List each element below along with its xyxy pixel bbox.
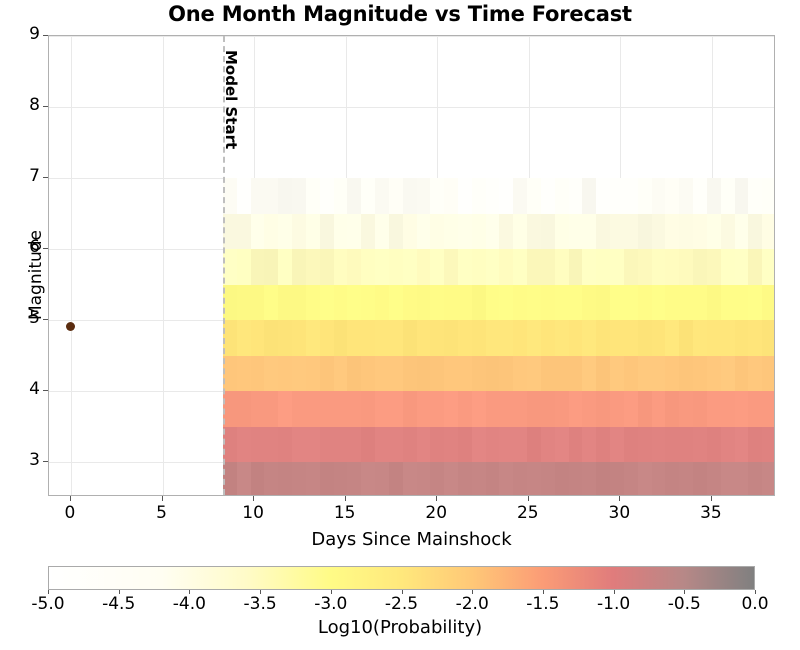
heatmap-cell xyxy=(541,426,555,462)
heatmap-cell xyxy=(458,426,472,462)
y-axis-tick-label: 7 xyxy=(4,166,40,186)
heatmap-cell xyxy=(569,320,583,356)
heatmap-cell xyxy=(403,355,417,391)
heatmap-cell xyxy=(610,320,624,356)
heatmap-cell xyxy=(417,355,431,391)
heatmap-cell xyxy=(375,284,389,320)
heatmap-cell xyxy=(223,178,237,214)
heatmap-cell xyxy=(320,249,334,285)
heatmap-cell xyxy=(264,462,278,496)
heatmap-cell xyxy=(652,284,666,320)
heatmap-cell xyxy=(541,391,555,427)
heatmap-cell xyxy=(652,355,666,391)
colorbar-tick-mark xyxy=(684,590,685,594)
heatmap-cell xyxy=(638,462,652,496)
heatmap-cell xyxy=(251,355,265,391)
heatmap-cell xyxy=(610,213,624,249)
heatmap-cell xyxy=(555,284,569,320)
heatmap-cell xyxy=(610,355,624,391)
heatmap-cell xyxy=(721,426,735,462)
heatmap-cell xyxy=(278,213,292,249)
heatmap-cell xyxy=(499,178,513,214)
colorbar-tick-mark xyxy=(755,590,756,594)
heatmap-cell xyxy=(707,178,721,214)
y-axis-tick-label: 8 xyxy=(4,95,40,115)
heatmap-cell xyxy=(624,213,638,249)
heatmap-cell xyxy=(403,284,417,320)
heatmap-cell xyxy=(375,320,389,356)
colorbar xyxy=(48,566,755,590)
heatmap-cell xyxy=(513,355,527,391)
heatmap-cell xyxy=(555,320,569,356)
colorbar-tick-label: -3.0 xyxy=(303,594,359,614)
colorbar-tick-mark xyxy=(472,590,473,594)
heatmap-cell xyxy=(472,284,486,320)
heatmap-cell xyxy=(223,426,237,462)
heatmap-cell xyxy=(624,249,638,285)
heatmap-cell xyxy=(251,213,265,249)
heatmap-cell xyxy=(320,213,334,249)
heatmap-cell xyxy=(486,213,500,249)
heatmap-cell xyxy=(306,355,320,391)
heatmap-cell xyxy=(403,213,417,249)
heatmap-cell xyxy=(334,462,348,496)
heatmap-cell xyxy=(417,284,431,320)
heatmap-cell xyxy=(264,284,278,320)
heatmap-cell xyxy=(375,213,389,249)
heatmap-cell xyxy=(582,249,596,285)
heatmap-cell xyxy=(735,213,749,249)
heatmap-cell xyxy=(499,462,513,496)
heatmap-cell xyxy=(292,284,306,320)
heatmap-cell xyxy=(665,426,679,462)
heatmap-cell xyxy=(320,284,334,320)
heatmap-cell xyxy=(513,462,527,496)
colorbar-tick-label: -1.0 xyxy=(586,594,642,614)
heatmap-cell xyxy=(665,355,679,391)
heatmap-cell xyxy=(417,178,431,214)
heatmap-cell xyxy=(527,320,541,356)
heatmap-cell xyxy=(486,284,500,320)
colorbar-tick-mark xyxy=(260,590,261,594)
x-axis-tick-mark xyxy=(70,496,71,501)
colorbar-tick-label: 0.0 xyxy=(727,594,783,614)
heatmap-cell xyxy=(444,213,458,249)
heatmap-cell xyxy=(582,178,596,214)
x-axis-tick-label: 0 xyxy=(50,503,90,523)
heatmap-cell xyxy=(596,320,610,356)
heatmap-cell xyxy=(444,178,458,214)
heatmap-cell xyxy=(748,391,762,427)
heatmap-cell xyxy=(693,249,707,285)
heatmap-cell xyxy=(665,213,679,249)
heatmap-cell xyxy=(610,391,624,427)
heatmap-cell xyxy=(389,213,403,249)
heatmap-cell xyxy=(430,391,444,427)
heatmap-cell xyxy=(624,284,638,320)
heatmap-cell xyxy=(652,391,666,427)
heatmap-cell xyxy=(499,426,513,462)
heatmap-cell xyxy=(610,284,624,320)
heatmap-cell xyxy=(707,213,721,249)
heatmap-cell xyxy=(679,355,693,391)
heatmap-cell xyxy=(375,462,389,496)
heatmap-cell xyxy=(638,249,652,285)
heatmap-cell xyxy=(748,178,762,214)
heatmap-cell xyxy=(430,462,444,496)
heatmap-cell xyxy=(306,462,320,496)
y-axis-tick-label: 3 xyxy=(4,450,40,470)
heatmap-cell xyxy=(527,426,541,462)
heatmap-cell xyxy=(223,462,237,496)
heatmap-cell xyxy=(417,462,431,496)
heatmap-cell xyxy=(264,320,278,356)
heatmap-cell xyxy=(347,391,361,427)
heatmap-cell xyxy=(569,355,583,391)
heatmap-cell xyxy=(499,213,513,249)
heatmap-cell xyxy=(486,320,500,356)
heatmap-cell xyxy=(486,426,500,462)
heatmap-cell xyxy=(721,391,735,427)
heatmap-cell xyxy=(624,462,638,496)
heatmap-cell xyxy=(361,462,375,496)
heatmap-cell xyxy=(596,391,610,427)
heatmap-cell xyxy=(513,249,527,285)
heatmap-cell xyxy=(638,355,652,391)
heatmap-cell xyxy=(458,213,472,249)
heatmap-cell xyxy=(610,249,624,285)
heatmap-cell xyxy=(403,426,417,462)
heatmap-cell xyxy=(417,249,431,285)
colorbar-tick-mark xyxy=(189,590,190,594)
heatmap-cell xyxy=(582,284,596,320)
heatmap-cell xyxy=(693,462,707,496)
heatmap-cell xyxy=(555,355,569,391)
heatmap-cell xyxy=(472,426,486,462)
heatmap-cell xyxy=(389,426,403,462)
heatmap-cell xyxy=(569,426,583,462)
heatmap-cell xyxy=(472,355,486,391)
heatmap-cell xyxy=(596,213,610,249)
heatmap-cell xyxy=(472,320,486,356)
heatmap-cell xyxy=(693,213,707,249)
heatmap-cell xyxy=(721,320,735,356)
heatmap-cell xyxy=(334,249,348,285)
colorbar-label: Log10(Probability) xyxy=(0,617,800,638)
heatmap-cell xyxy=(582,462,596,496)
heatmap-cell xyxy=(513,391,527,427)
x-axis-tick-label: 35 xyxy=(691,503,731,523)
heatmap-cell xyxy=(762,391,775,427)
heatmap-cell xyxy=(320,320,334,356)
x-axis-tick-mark xyxy=(528,496,529,501)
heatmap-cell xyxy=(237,213,251,249)
heatmap-cell xyxy=(624,391,638,427)
heatmap-cell xyxy=(638,391,652,427)
heatmap-cell xyxy=(430,320,444,356)
heatmap-cell xyxy=(541,284,555,320)
heatmap-cell xyxy=(762,178,775,214)
heatmap-cell xyxy=(527,213,541,249)
heatmap-cell xyxy=(624,178,638,214)
heatmap-cell xyxy=(748,462,762,496)
heatmap-cell xyxy=(569,391,583,427)
x-axis-tick-label: 10 xyxy=(233,503,273,523)
heatmap-cell xyxy=(762,462,775,496)
x-axis-tick-label: 15 xyxy=(325,503,365,523)
heatmap-cell xyxy=(707,426,721,462)
heatmap-cell xyxy=(762,284,775,320)
heatmap-cell xyxy=(264,213,278,249)
heatmap-cell xyxy=(375,426,389,462)
heatmap-cell xyxy=(389,249,403,285)
heatmap-cell xyxy=(638,426,652,462)
heatmap-cell xyxy=(679,462,693,496)
heatmap-cell xyxy=(541,462,555,496)
y-axis-tick-mark xyxy=(43,35,48,36)
heatmap-cell xyxy=(679,391,693,427)
heatmap-cell xyxy=(403,391,417,427)
heatmap-cell xyxy=(389,178,403,214)
heatmap-cell xyxy=(403,249,417,285)
heatmap-cell xyxy=(237,249,251,285)
heatmap-cell xyxy=(541,213,555,249)
heatmap-cell xyxy=(278,284,292,320)
heatmap-cell xyxy=(555,249,569,285)
heatmap-cell xyxy=(541,249,555,285)
heatmap-cell xyxy=(679,320,693,356)
heatmap-cell xyxy=(569,213,583,249)
heatmap-cell xyxy=(347,320,361,356)
heatmap-cell xyxy=(251,426,265,462)
heatmap-cell xyxy=(624,320,638,356)
heatmap-cell xyxy=(707,320,721,356)
heatmap-cell xyxy=(237,462,251,496)
heatmap-cell xyxy=(251,462,265,496)
heatmap-cell xyxy=(306,178,320,214)
plot-area: Model Start xyxy=(48,35,775,496)
colorbar-tick-mark xyxy=(331,590,332,594)
heatmap-cell xyxy=(403,320,417,356)
heatmap-cell xyxy=(444,462,458,496)
heatmap-cell xyxy=(444,284,458,320)
heatmap-cell xyxy=(582,213,596,249)
heatmap-cell xyxy=(735,249,749,285)
heatmap-cell xyxy=(596,355,610,391)
heatmap-cell xyxy=(320,391,334,427)
heatmap-cell xyxy=(361,320,375,356)
heatmap-cell xyxy=(499,284,513,320)
heatmap-cell xyxy=(237,391,251,427)
heatmap-cell xyxy=(486,178,500,214)
heatmap-cell xyxy=(347,213,361,249)
x-axis-tick-mark xyxy=(162,496,163,501)
heatmap-cell xyxy=(735,462,749,496)
heatmap-cell xyxy=(430,178,444,214)
heatmap-cell xyxy=(527,462,541,496)
heatmap-cell xyxy=(624,426,638,462)
heatmap-cell xyxy=(278,320,292,356)
heatmap-cell xyxy=(237,178,251,214)
heatmap-cell xyxy=(652,178,666,214)
heatmap-cell xyxy=(375,178,389,214)
heatmap-cell xyxy=(292,462,306,496)
heatmap-cell xyxy=(748,249,762,285)
heatmap-cell xyxy=(430,355,444,391)
heatmap-cell xyxy=(320,178,334,214)
heatmap-cell xyxy=(306,426,320,462)
heatmap-cell xyxy=(735,355,749,391)
heatmap-cell xyxy=(458,249,472,285)
heatmap-cell xyxy=(762,249,775,285)
colorbar-tick-mark xyxy=(119,590,120,594)
heatmap-cell xyxy=(251,284,265,320)
heatmap-cell xyxy=(735,391,749,427)
heatmap-cell xyxy=(679,178,693,214)
heatmap-cell xyxy=(389,391,403,427)
colorbar-gradient xyxy=(48,566,755,590)
heatmap-cell xyxy=(361,249,375,285)
heatmap-cell xyxy=(417,213,431,249)
heatmap-cell xyxy=(762,320,775,356)
x-axis-tick-mark xyxy=(253,496,254,501)
heatmap-cell xyxy=(693,284,707,320)
heatmap-cell xyxy=(389,284,403,320)
heatmap-cell xyxy=(665,391,679,427)
heatmap-cell xyxy=(292,213,306,249)
heatmap-cell xyxy=(693,391,707,427)
heatmap-cell xyxy=(582,426,596,462)
heatmap-cell xyxy=(347,426,361,462)
heatmap-cell xyxy=(444,320,458,356)
heatmap-cell xyxy=(347,355,361,391)
x-axis-label: Days Since Mainshock xyxy=(48,529,775,550)
heatmap-cell xyxy=(555,213,569,249)
heatmap-cell xyxy=(665,249,679,285)
heatmap-cell xyxy=(486,462,500,496)
heatmap-cell xyxy=(458,320,472,356)
heatmap-cell xyxy=(292,249,306,285)
heatmap-cell xyxy=(458,284,472,320)
heatmap-cell xyxy=(320,355,334,391)
heatmap-cell xyxy=(596,178,610,214)
heatmap-cell xyxy=(513,213,527,249)
heatmap-cell xyxy=(693,355,707,391)
heatmap-cell xyxy=(472,213,486,249)
heatmap-cell xyxy=(292,426,306,462)
heatmap-cell xyxy=(721,462,735,496)
heatmap-cell xyxy=(679,249,693,285)
heatmap-cell xyxy=(499,320,513,356)
x-axis-tick-mark xyxy=(711,496,712,501)
heatmap-cell xyxy=(762,355,775,391)
heatmap-cell xyxy=(389,462,403,496)
heatmap-cell xyxy=(264,391,278,427)
colorbar-tick-mark xyxy=(614,590,615,594)
heatmap-cell xyxy=(278,178,292,214)
heatmap-cell xyxy=(430,213,444,249)
x-axis-tick-mark xyxy=(619,496,620,501)
heatmap-cell xyxy=(223,391,237,427)
heatmap-cell xyxy=(292,355,306,391)
heatmap-cell xyxy=(334,355,348,391)
heatmap-cell xyxy=(237,284,251,320)
heatmap-cell xyxy=(638,284,652,320)
colorbar-tick-mark xyxy=(543,590,544,594)
x-axis-tick-mark xyxy=(345,496,346,501)
heatmap-cell xyxy=(237,426,251,462)
heatmap-cell xyxy=(361,355,375,391)
y-axis-label: Magnitude xyxy=(26,195,46,355)
x-axis-tick-label: 5 xyxy=(142,503,182,523)
heatmap-cell xyxy=(306,213,320,249)
heatmap-cell xyxy=(569,462,583,496)
colorbar-tick-mark xyxy=(402,590,403,594)
heatmap-cell xyxy=(458,391,472,427)
heatmap-cell xyxy=(499,355,513,391)
heatmap-cell xyxy=(430,426,444,462)
heatmap-cell xyxy=(721,178,735,214)
heatmap-cell xyxy=(499,249,513,285)
heatmap-cell xyxy=(417,426,431,462)
heatmap-cell xyxy=(638,213,652,249)
heatmap-cell xyxy=(596,462,610,496)
heatmap-cell xyxy=(251,178,265,214)
heatmap-cell xyxy=(223,213,237,249)
heatmap-cell xyxy=(541,320,555,356)
heatmap-cell xyxy=(334,284,348,320)
heatmap-cell xyxy=(707,355,721,391)
heatmap-cell xyxy=(582,391,596,427)
heatmap-cell xyxy=(430,284,444,320)
heatmap-cell xyxy=(306,391,320,427)
heatmap-cell xyxy=(486,249,500,285)
heatmap-cell xyxy=(582,320,596,356)
heatmap-cell xyxy=(223,284,237,320)
heatmap-cell xyxy=(251,249,265,285)
heatmap-cell xyxy=(679,426,693,462)
heatmap-cell xyxy=(334,320,348,356)
heatmap-cell xyxy=(555,178,569,214)
heatmap-cell xyxy=(541,178,555,214)
page-title: One Month Magnitude vs Time Forecast xyxy=(0,2,800,26)
heatmap-cell xyxy=(748,284,762,320)
heatmap-grid xyxy=(49,36,774,495)
heatmap-cell xyxy=(513,178,527,214)
heatmap-cell xyxy=(417,320,431,356)
heatmap-cell xyxy=(679,284,693,320)
y-axis-tick-mark xyxy=(43,177,48,178)
heatmap-cell xyxy=(762,213,775,249)
heatmap-cell xyxy=(375,391,389,427)
heatmap-cell xyxy=(665,320,679,356)
heatmap-cell xyxy=(403,462,417,496)
heatmap-cell xyxy=(361,284,375,320)
heatmap-cell xyxy=(721,249,735,285)
heatmap-cell xyxy=(389,320,403,356)
heatmap-cell xyxy=(693,426,707,462)
heatmap-cell xyxy=(223,355,237,391)
heatmap-cell xyxy=(569,284,583,320)
heatmap-cell xyxy=(458,355,472,391)
heatmap-cell xyxy=(486,391,500,427)
heatmap-cell xyxy=(264,249,278,285)
heatmap-cell xyxy=(679,213,693,249)
heatmap-cell xyxy=(610,426,624,462)
heatmap-cell xyxy=(513,284,527,320)
heatmap-cell xyxy=(292,178,306,214)
heatmap-cell xyxy=(264,178,278,214)
